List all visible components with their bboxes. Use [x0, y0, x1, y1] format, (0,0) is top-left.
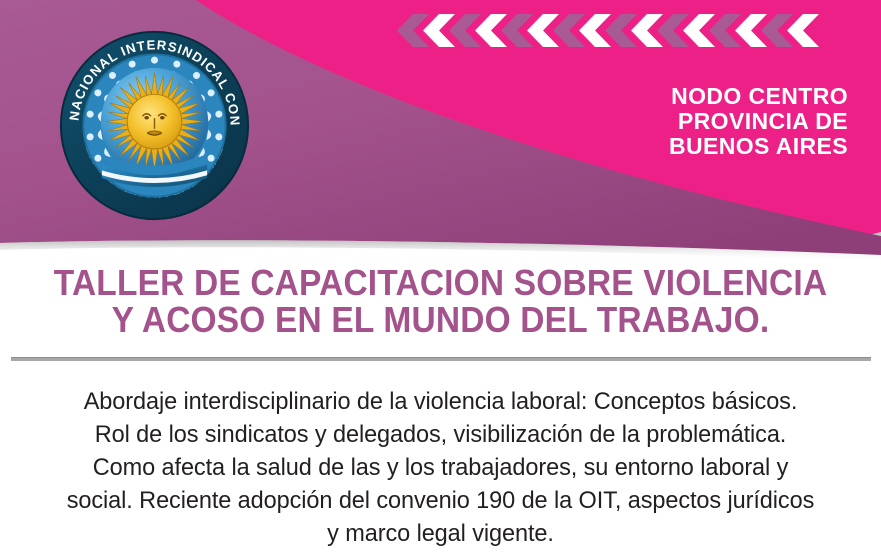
- poster-canvas: RED NACIONAL INTERSINDICAL CONTRA LA VIO…: [0, 0, 881, 558]
- nodo-text-block: NODO CENTRO PROVINCIA DE BUENOS AIRES: [669, 84, 848, 159]
- organization-logo: RED NACIONAL INTERSINDICAL CONTRA LA VIO…: [57, 28, 252, 223]
- title-line-1: TALLER DE CAPACITACION SOBRE VIOLENCIA: [31, 264, 850, 301]
- page-title: TALLER DE CAPACITACION SOBRE VIOLENCIA Y…: [31, 264, 850, 338]
- body-line-5: y marco legal vigente.: [18, 517, 864, 550]
- body-line-4: social. Reciente adopción del convenio 1…: [18, 484, 864, 517]
- description-text: Abordaje interdisciplinario de la violen…: [18, 385, 864, 550]
- nodo-line-3: BUENOS AIRES: [669, 134, 848, 159]
- body-line-2: Rol de los sindicatos y delegados, visib…: [18, 418, 864, 451]
- title-line-2: Y ACOSO EN EL MUNDO DEL TRABAJO.: [31, 301, 850, 338]
- section-divider: [11, 357, 871, 361]
- nodo-line-1: NODO CENTRO: [669, 84, 848, 109]
- body-line-1: Abordaje interdisciplinario de la violen…: [18, 385, 864, 418]
- body-line-3: Como afecta la salud de las y los trabaj…: [18, 451, 864, 484]
- nodo-line-2: PROVINCIA DE: [669, 109, 848, 134]
